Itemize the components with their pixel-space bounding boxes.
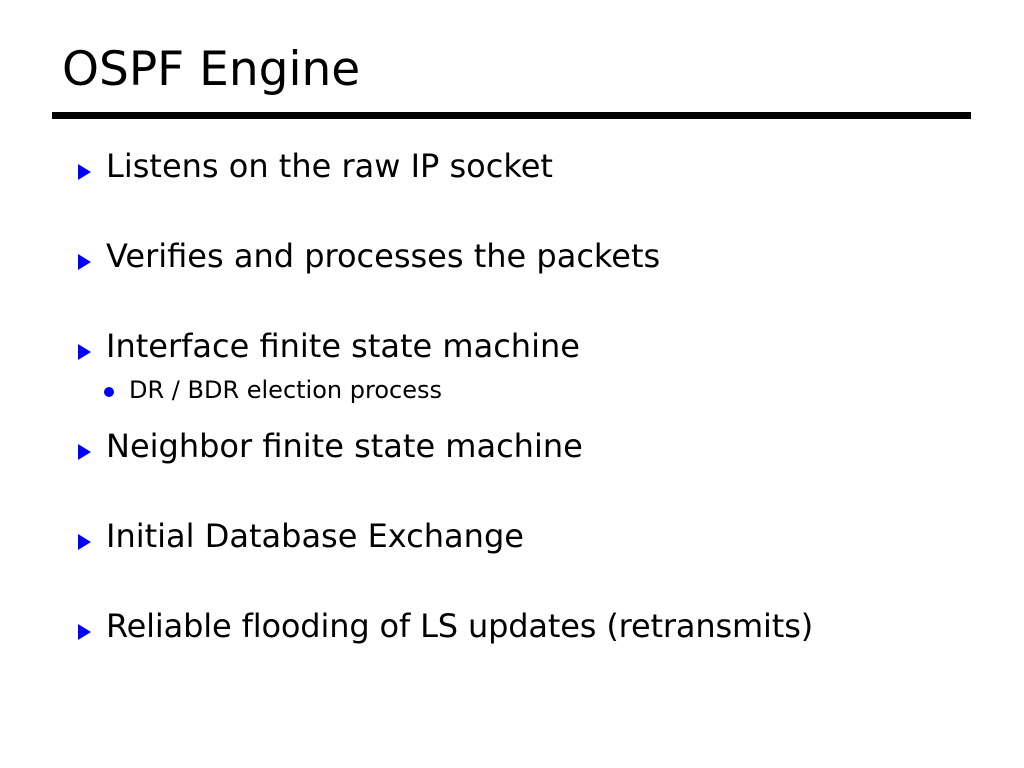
sub-bullet-list-item: DR / BDR election process [0,376,1024,428]
bullet-list-item-label: Neighbor finite state machine [106,428,583,464]
slide-title: OSPF Engine [62,46,360,93]
bullet-list-item-label: Reliable flooding of LS updates (retrans… [106,608,813,644]
bullet-list-item-label: Listens on the raw IP socket [106,148,553,184]
bullet-list-item: Initial Database Exchange [0,518,1024,608]
bullet-list-item: Listens on the raw IP socket [0,148,1024,238]
blue-triangle-bullet-icon [78,621,106,640]
bullet-list-item-label: Interface finite state machine [106,328,580,364]
blue-triangle-bullet-icon [78,161,106,180]
title-underline-rule [52,112,971,119]
bullet-list-item: Verifies and processes the packets [0,238,1024,328]
slide-body-bullet-list: Listens on the raw IP socket Verifies an… [0,148,1024,698]
blue-dot-bullet-icon [104,381,129,400]
bullet-list-item-label: Verifies and processes the packets [106,238,660,274]
blue-triangle-bullet-icon [78,341,106,360]
blue-triangle-bullet-icon [78,251,106,270]
bullet-list-item-label: Initial Database Exchange [106,518,524,554]
presentation-slide: OSPF Engine Listens on the raw IP socket… [0,0,1024,768]
blue-triangle-bullet-icon [78,441,106,460]
bullet-list-item: Neighbor finite state machine [0,428,1024,518]
blue-triangle-bullet-icon [78,531,106,550]
bullet-list-item: Reliable flooding of LS updates (retrans… [0,608,1024,698]
sub-bullet-list-item-label: DR / BDR election process [129,376,442,404]
